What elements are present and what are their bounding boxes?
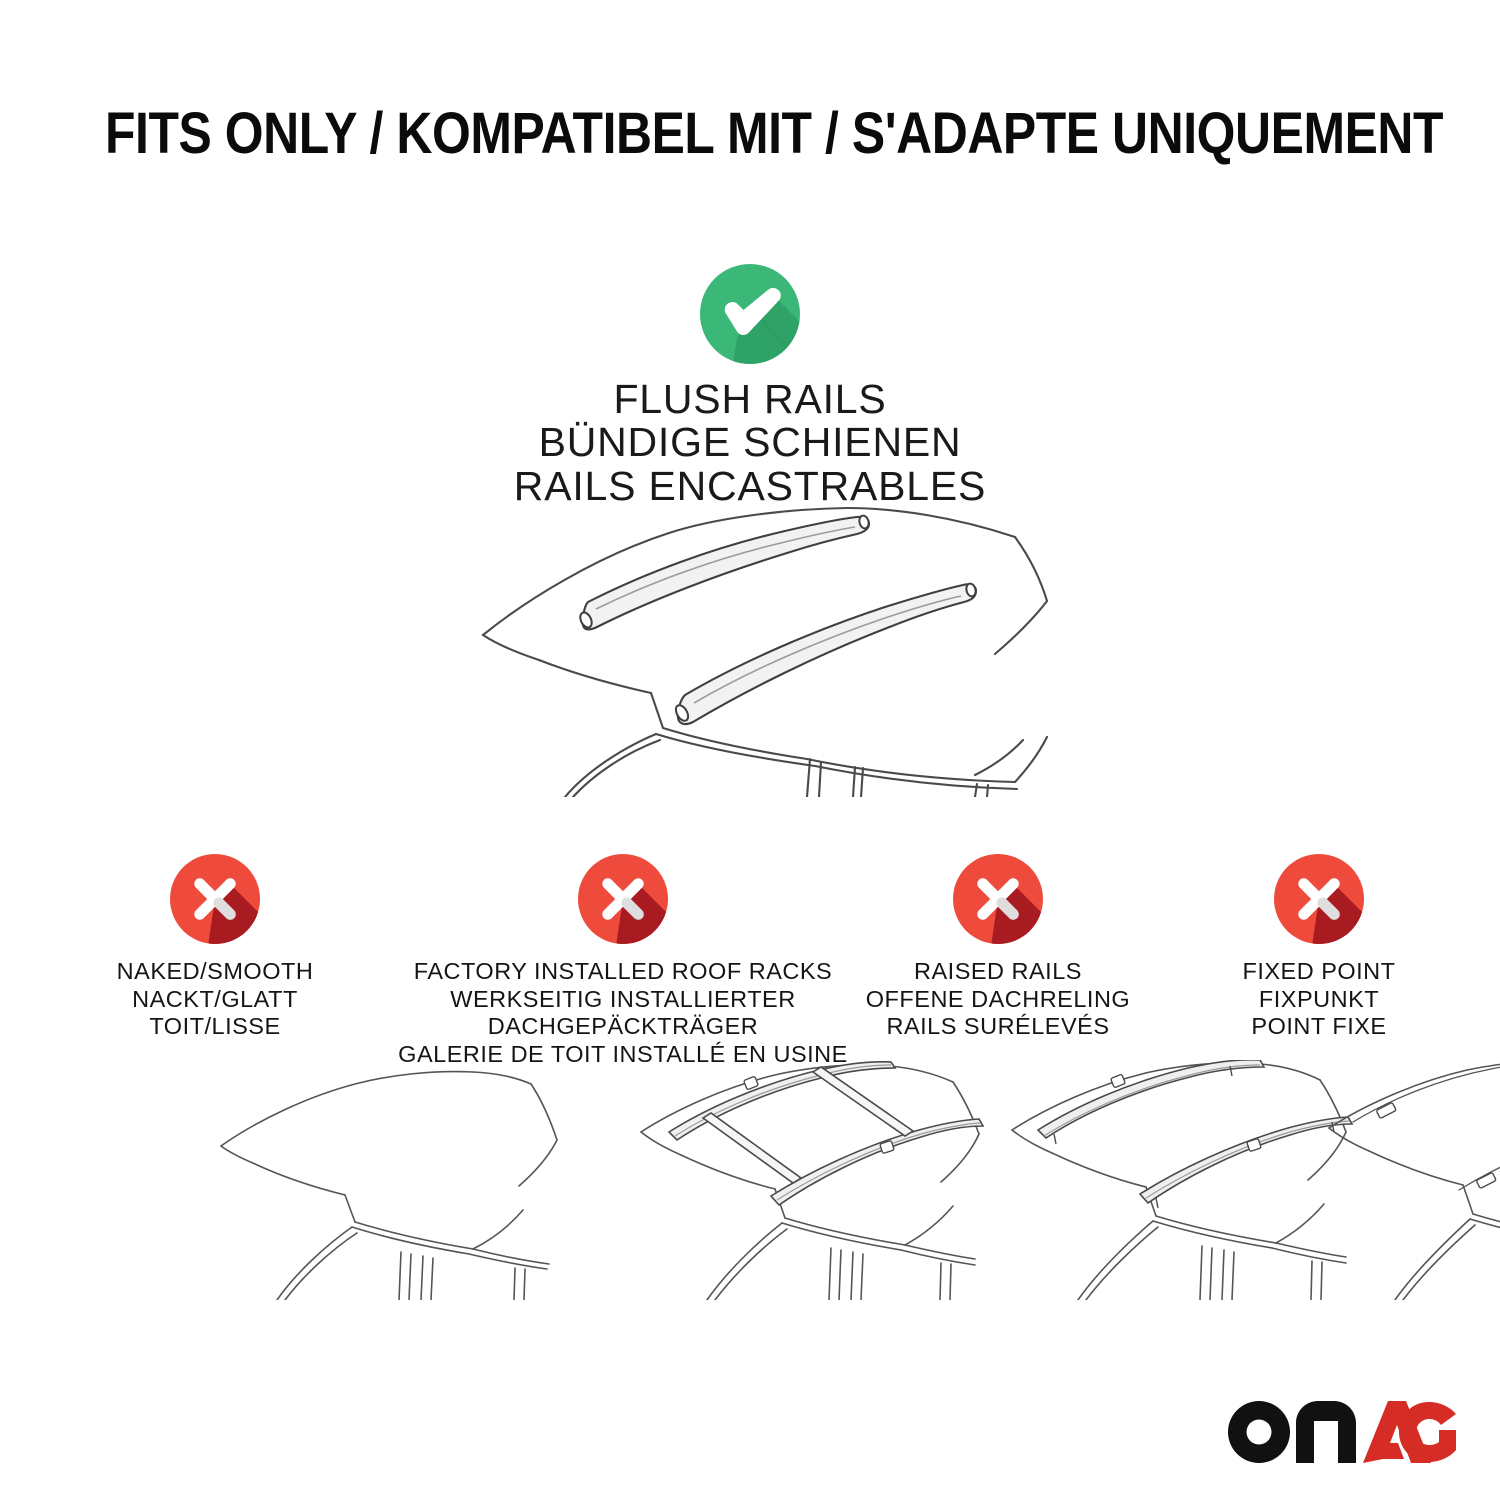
omac-logo [1226,1400,1456,1464]
flush-rail-near [673,583,977,724]
raised-rails [1038,1060,1352,1208]
omac-logo-svg [1226,1401,1456,1463]
flush-rail-far [578,515,870,630]
label-line-de: FIXPUNKT [939,986,1500,1014]
car-roof-fixed-point-svg [1319,1060,1500,1300]
incompatible-label: FIXED POINT FIXPUNKT POINT FIXE [939,958,1500,1041]
logo-letter-c [1399,1402,1456,1462]
car-roof-factory-racks-svg [623,1060,1023,1300]
page-header: FITS ONLY / KOMPATIBEL MIT / S'ADAPTE UN… [0,104,1500,165]
car-roof-flush-rails-illustration [455,497,1055,797]
compatible-section: FLUSH RAILS BÜNDIGE SCHIENEN RAILS ENCAS… [0,262,1500,508]
compatible-label-line-de: BÜNDIGE SCHIENEN [0,421,1500,464]
incompatible-section: NAKED/SMOOTH NACKT/GLATT TOIT/LISSE [0,852,1500,1322]
compatible-label-line-en: FLUSH RAILS [0,378,1500,421]
page-title: FITS ONLY / KOMPATIBEL MIT / S'ADAPTE UN… [105,104,1395,165]
green-check-icon-svg [698,262,802,366]
logo-letter-o [1228,1401,1290,1463]
compatible-label: FLUSH RAILS BÜNDIGE SCHIENEN RAILS ENCAS… [0,378,1500,508]
fixed-points [1376,1060,1500,1188]
red-x-icon [1272,852,1366,946]
label-line-en: FIXED POINT [939,958,1500,986]
label-line-fr: POINT FIXE [939,1013,1500,1041]
side-rails [669,1062,983,1205]
green-check-icon [698,262,802,366]
red-x-icon-svg [1272,852,1366,946]
car-roof-naked-svg [215,1060,575,1300]
crossbars [703,1067,913,1183]
logo-letter-m [1296,1401,1356,1463]
car-roof-flush-rails-svg [455,497,1055,797]
car-roof-raised-rails-svg [998,1060,1368,1300]
